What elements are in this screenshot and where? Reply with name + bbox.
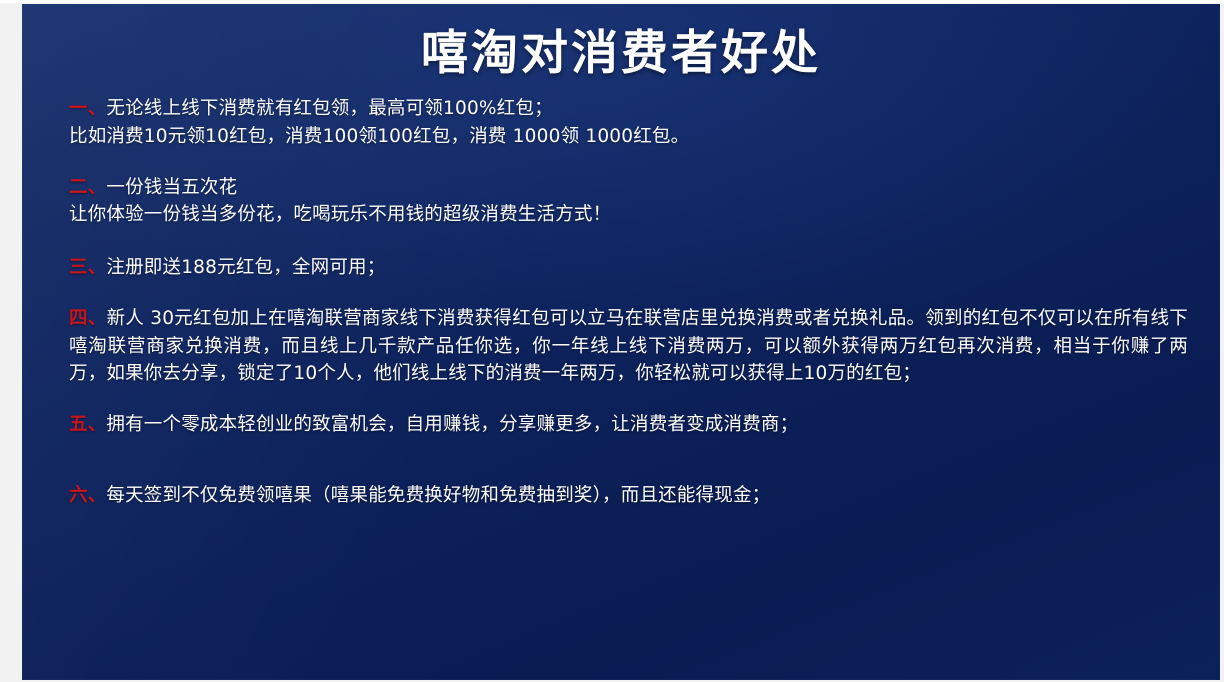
slide-content: 嘻淘对消费者好处 一、无论线上线下消费就有红包领，最高可领100%红包； 比如消…: [22, 4, 1220, 680]
list-item-subline: 比如消费10元领10红包，消费100领100红包，消费 1000领 1000红包…: [69, 123, 1196, 150]
list-item-text: 拥有一个零成本轻创业的致富机会，自用赚钱，分享赚更多，让消费者变成消费商；: [106, 414, 798, 435]
list-item-text: 一份钱当五次花: [106, 177, 237, 198]
list-item-text: 注册即送188元红包，全网可用；: [106, 257, 385, 278]
list-item-marker: 一、: [69, 98, 106, 119]
page-canvas: 嘻淘对消费者好处 一、无论线上线下消费就有红包领，最高可领100%红包； 比如消…: [0, 0, 1224, 682]
list-item: 六、每天签到不仅免费领嘻果（嘻果能免费换好物和免费抽到奖），而且还能得现金；: [69, 482, 1196, 509]
list-item: 一、无论线上线下消费就有红包领，最高可领100%红包； 比如消费10元领10红包…: [69, 95, 1196, 149]
list-item-text: 新人 30元红包加上在嘻淘联营商家线下消费获得红包可以立马在联营店里兑换消费或者…: [69, 308, 1188, 383]
presentation-slide: 嘻淘对消费者好处 一、无论线上线下消费就有红包领，最高可领100%红包； 比如消…: [22, 4, 1220, 680]
benefit-list: 一、无论线上线下消费就有红包领，最高可领100%红包； 比如消费10元领10红包…: [22, 81, 1220, 509]
list-item: 四、新人 30元红包加上在嘻淘联营商家线下消费获得红包可以立马在联营店里兑换消费…: [69, 305, 1196, 387]
list-item-subline: 让你体验一份钱当多份花，吃喝玩乐不用钱的超级消费生活方式！: [69, 201, 1196, 228]
list-item-text: 每天签到不仅免费领嘻果（嘻果能免费换好物和免费抽到奖），而且还能得现金；: [106, 485, 770, 506]
list-item-marker: 三、: [69, 257, 106, 278]
list-item-marker: 二、: [69, 177, 106, 198]
list-item-text: 无论线上线下消费就有红包领，最高可领100%红包；: [106, 98, 552, 119]
list-item: 三、注册即送188元红包，全网可用；: [69, 254, 1196, 281]
list-item-marker: 六、: [69, 485, 106, 506]
list-item: 五、拥有一个零成本轻创业的致富机会，自用赚钱，分享赚更多，让消费者变成消费商；: [69, 411, 1196, 438]
list-item-marker: 四、: [69, 308, 107, 329]
list-item-marker: 五、: [69, 414, 106, 435]
list-item: 二、一份钱当五次花 让你体验一份钱当多份花，吃喝玩乐不用钱的超级消费生活方式！: [69, 174, 1196, 228]
page-title: 嘻淘对消费者好处: [22, 4, 1220, 81]
